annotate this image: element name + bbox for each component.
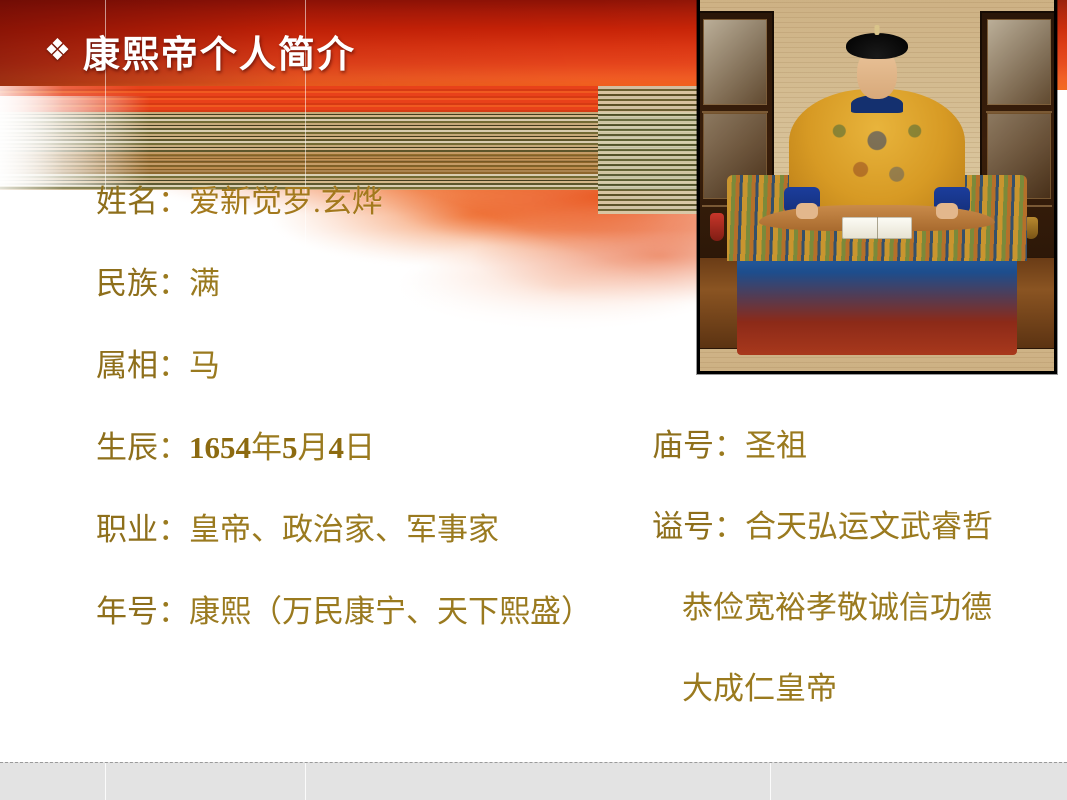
birth-month-unit: 月 [298,430,329,465]
birth-month: 5 [282,430,298,465]
emperor-kangxi-portrait [697,0,1057,374]
info-label: 生辰 [96,430,158,465]
info-separator: ： [158,512,189,547]
footer-guide-line [105,763,106,800]
slide-footer-strip [0,762,1067,800]
info-separator: ： [158,348,189,383]
info-separator: ： [714,509,745,544]
slide-title-row: ❖ 康熙帝个人简介 [44,24,356,78]
open-book [842,217,912,239]
info-line-zodiac: 属相：马 [96,350,666,381]
page-title: 康熙帝个人简介 [83,24,356,78]
info-label: 谥号 [652,509,714,544]
info-label: 庙号 [652,428,714,463]
info-separator: ： [158,430,189,465]
diamond-cluster-icon: ❖ [44,36,71,66]
info-separator: ： [158,594,189,629]
footer-guide-line [305,763,306,800]
info-column-left: 姓名：爱新觉罗.玄烨 民族：满 属相：马 生辰：1654年5月4日 职业：皇帝、… [96,186,666,678]
cabinet-vase [710,213,724,241]
info-line-temple-name: 庙号：圣祖 [652,430,1067,461]
info-line-posthumous-name-cont-1: 恭俭宽裕孝敬诚信功德 [652,592,1067,623]
info-value: 马 [189,348,220,383]
info-value: 爱新觉罗.玄烨 [189,184,383,219]
info-value: 皇帝、政治家、军事家 [189,512,499,547]
info-value: 康熙（万民康宁、天下熙盛） [189,594,592,629]
info-line-ethnicity: 民族：满 [96,268,666,299]
info-line-birthdate: 生辰：1654年5月4日 [96,432,666,463]
cabinet-glass [703,19,767,105]
info-label: 年号 [96,594,158,629]
birth-year-unit: 年 [251,430,282,465]
background-stripe-fade-left [0,96,150,186]
info-value: 满 [189,266,220,301]
cabinet-shelf [702,111,768,113]
info-value: 合天弘运文武睿哲 [745,509,993,544]
birth-day-unit: 日 [344,430,375,465]
cabinet-glass [987,19,1051,105]
portrait-canvas [700,0,1054,371]
emperor-hand-left [796,203,818,219]
birth-day: 4 [329,430,345,465]
info-label: 职业 [96,512,158,547]
footer-guide-line [770,763,771,800]
info-line-reign-title: 年号：康熙（万民康宁、天下熙盛） [96,596,666,627]
info-column-right: 庙号：圣祖 谥号：合天弘运文武睿哲 恭俭宽裕孝敬诚信功德 大成仁皇帝 [652,430,1067,704]
info-label: 姓名 [96,184,158,219]
info-value: 圣祖 [745,428,807,463]
info-label: 民族 [96,266,158,301]
hat-finial-icon [875,25,880,35]
info-separator: ： [158,184,189,219]
info-separator: ： [158,266,189,301]
info-line-name: 姓名：爱新觉罗.玄烨 [96,186,666,217]
birth-year: 1654 [189,430,251,465]
info-line-occupation: 职业：皇帝、政治家、军事家 [96,514,666,545]
info-line-posthumous-name: 谥号：合天弘运文武睿哲 [652,511,1067,542]
info-separator: ： [714,428,745,463]
emperor-hat [846,33,908,59]
slide: ❖ 康熙帝个人简介 [0,0,1067,800]
info-line-posthumous-name-cont-2: 大成仁皇帝 [652,673,1067,704]
emperor-hand-right [936,203,958,219]
cabinet-shelf [986,111,1052,113]
info-label: 属相 [96,348,158,383]
